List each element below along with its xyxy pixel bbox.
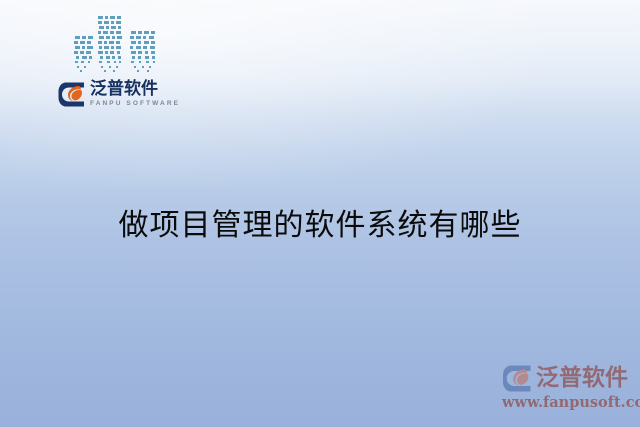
- brand-lockup: 泛普软件 FANPU SOFTWARE: [58, 80, 180, 114]
- watermark-lockup: 泛普软件: [502, 363, 634, 393]
- slide-canvas: 泛普软件 FANPU SOFTWARE 做项目管理的软件系统有哪些 泛普软件 w…: [0, 0, 640, 427]
- brand-name-cn: 泛普软件: [90, 80, 180, 98]
- fanpu-logo-mark-icon: [58, 82, 85, 107]
- watermark-url: www.fanpusoft.com: [502, 394, 634, 411]
- brand-name-en: FANPU SOFTWARE: [90, 99, 180, 109]
- watermark-name-cn: 泛普软件: [536, 365, 628, 391]
- watermark: 泛普软件 www.fanpusoft.com: [502, 363, 634, 415]
- city-skyline-icon: [68, 12, 168, 74]
- page-title: 做项目管理的软件系统有哪些: [0, 206, 640, 246]
- brand-words: 泛普软件 FANPU SOFTWARE: [90, 80, 180, 109]
- fanpu-logo-mark-icon: [502, 365, 532, 392]
- brand-block: 泛普软件 FANPU SOFTWARE: [58, 10, 178, 110]
